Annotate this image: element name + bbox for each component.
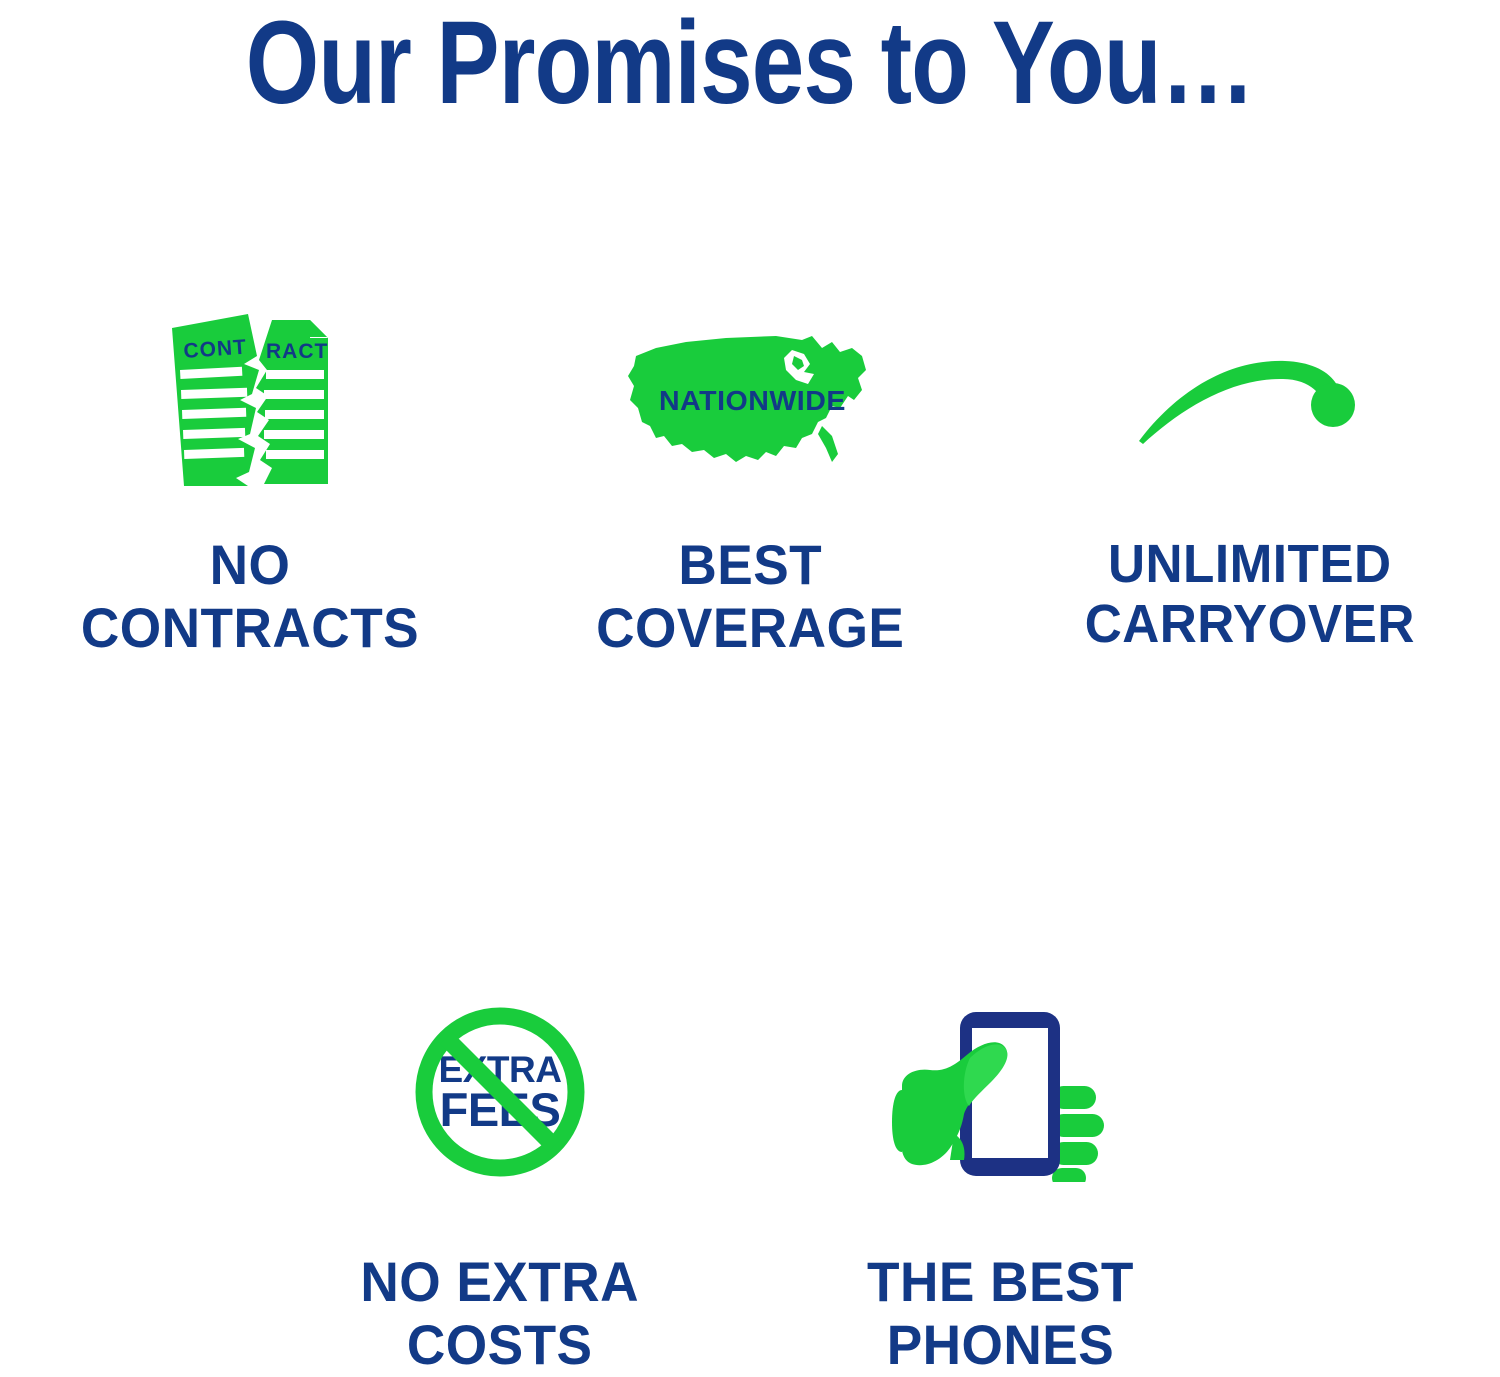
contract-text-left: CONT — [183, 335, 248, 362]
promise-label-the-best-phones: THE BEST PHONES — [867, 1251, 1134, 1376]
icon-box-unlimited-carryover — [1000, 300, 1500, 500]
contract-text-right: RACT — [266, 340, 328, 363]
promise-label-no-contracts: NO CONTRACTS — [81, 534, 419, 659]
icon-box-no-extra-costs: EXTRA FEES — [250, 984, 750, 1199]
torn-contract-icon: CONT RACT — [160, 308, 340, 493]
promises-row-bottom: EXTRA FEES NO EXTRA COSTS — [0, 984, 1500, 1376]
hand-wrist — [892, 1090, 902, 1152]
icon-box-no-contracts: CONT RACT — [0, 300, 500, 500]
promise-label-unlimited-carryover: UNLIMITED CARRYOVER — [1085, 534, 1415, 655]
no-extra-fees-icon: EXTRA FEES — [412, 1004, 588, 1180]
carryover-arc-icon — [1135, 345, 1365, 455]
promise-label-no-extra-costs: NO EXTRA COSTS — [361, 1251, 640, 1376]
hand-holding-phone-icon — [892, 1002, 1108, 1182]
promises-grid: CONT RACT NO CONTRACTS NATIONWIDE — [0, 300, 1500, 1377]
carryover-arc-endpoint — [1311, 383, 1355, 427]
promise-unlimited-carryover: UNLIMITED CARRYOVER — [1000, 300, 1500, 655]
promise-label-best-coverage: BEST COVERAGE — [596, 534, 904, 659]
promises-row-top: CONT RACT NO CONTRACTS NATIONWIDE — [0, 300, 1500, 659]
promise-the-best-phones: THE BEST PHONES — [750, 984, 1250, 1376]
icon-box-the-best-phones — [750, 984, 1250, 1199]
promise-no-contracts: CONT RACT NO CONTRACTS — [0, 300, 500, 659]
icon-box-best-coverage: NATIONWIDE — [500, 300, 1000, 500]
nationwide-text: NATIONWIDE — [659, 384, 846, 416]
page-title: Our Promises to You… — [150, 4, 1350, 122]
promise-best-coverage: NATIONWIDE BEST COVERAGE — [500, 300, 1000, 659]
usa-map-icon: NATIONWIDE — [626, 334, 874, 466]
promise-no-extra-costs: EXTRA FEES NO EXTRA COSTS — [250, 984, 750, 1376]
